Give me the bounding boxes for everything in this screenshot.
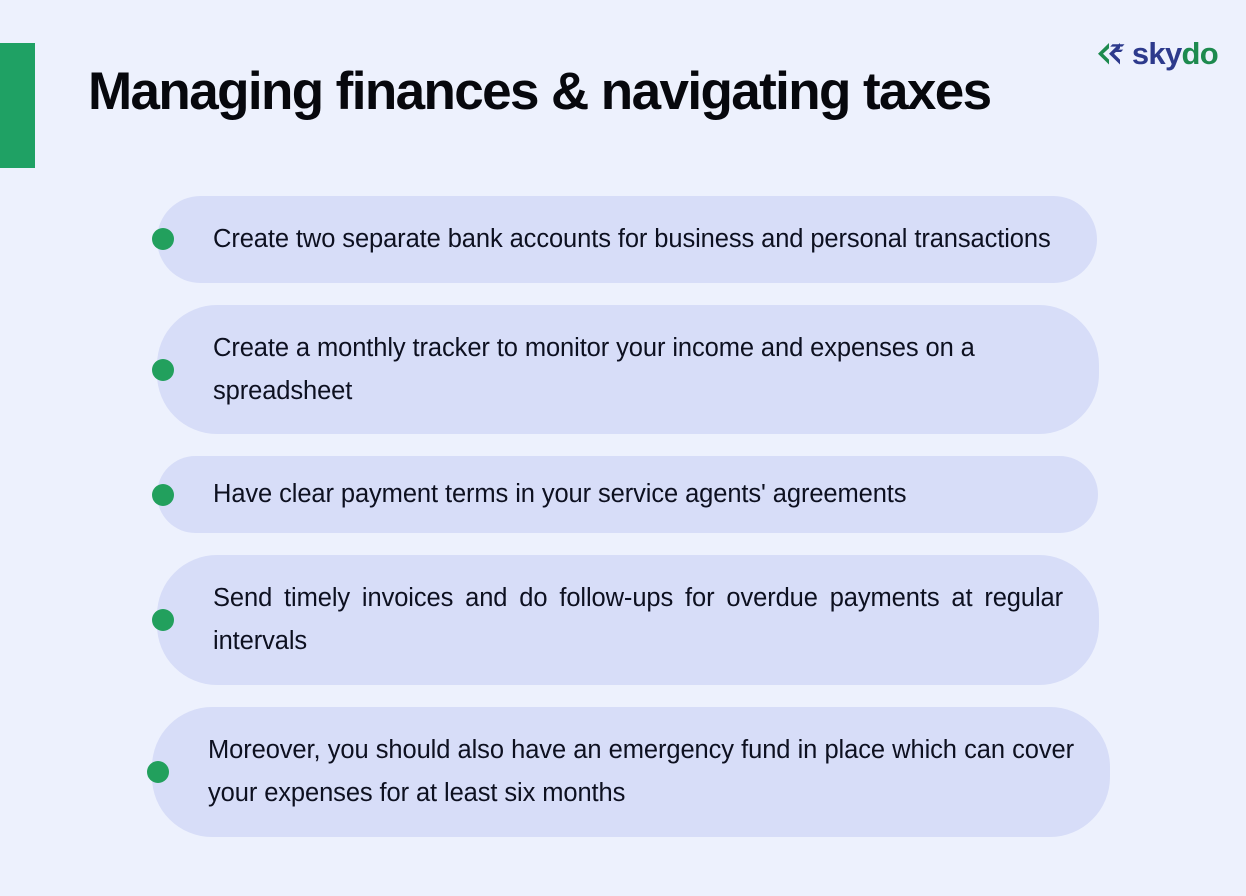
- logo-wordmark: skydo: [1132, 38, 1218, 69]
- logo-word-sky: sky: [1132, 36, 1182, 71]
- list-item: Create two separate bank accounts for bu…: [0, 196, 1246, 283]
- bullet-list: Create two separate bank accounts for bu…: [0, 196, 1246, 859]
- list-item: Have clear payment terms in your service…: [0, 456, 1246, 533]
- bullet-text: Have clear payment terms in your service…: [213, 473, 1062, 516]
- bullet-card: Create two separate bank accounts for bu…: [157, 196, 1097, 283]
- page-title: Managing finances & navigating taxes: [88, 62, 991, 123]
- list-item: Send timely invoices and do follow-ups f…: [0, 555, 1246, 685]
- bullet-dot-icon: [152, 228, 174, 250]
- bullet-dot-icon: [147, 761, 169, 783]
- bullet-dot-icon: [152, 359, 174, 381]
- bullet-text: Send timely invoices and do follow-ups f…: [213, 577, 1063, 663]
- bullet-card: Create a monthly tracker to monitor your…: [157, 305, 1099, 435]
- bullet-card: Send timely invoices and do follow-ups f…: [157, 555, 1099, 685]
- skydo-logo: skydo: [1096, 38, 1218, 69]
- double-chevron-icon: [1096, 40, 1126, 68]
- bullet-card: Have clear payment terms in your service…: [157, 456, 1098, 533]
- bullet-dot-icon: [152, 609, 174, 631]
- left-accent-bar: [0, 43, 35, 168]
- list-item: Moreover, you should also have an emerge…: [0, 707, 1246, 837]
- bullet-text: Create a monthly tracker to monitor your…: [213, 327, 1063, 413]
- list-item: Create a monthly tracker to monitor your…: [0, 305, 1246, 435]
- bullet-card: Moreover, you should also have an emerge…: [152, 707, 1110, 837]
- bullet-text: Create two separate bank accounts for bu…: [213, 218, 1061, 261]
- logo-word-do: do: [1182, 36, 1218, 71]
- bullet-dot-icon: [152, 484, 174, 506]
- bullet-text: Moreover, you should also have an emerge…: [208, 729, 1074, 815]
